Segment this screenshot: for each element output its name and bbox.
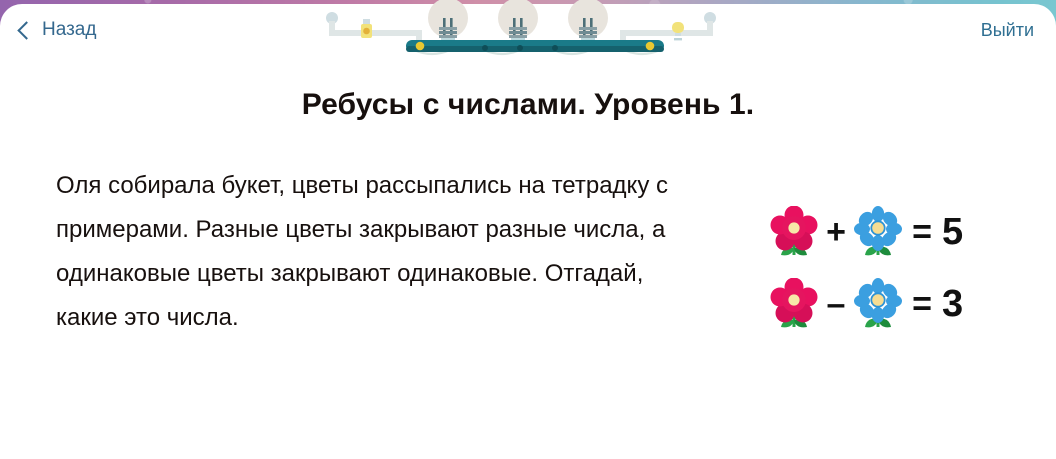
equals-sign: = [907,215,937,249]
right-wire-icon [620,12,716,44]
bulb-icon-1 [428,0,468,44]
equation-row: + [770,196,1000,268]
task-description: Оля собирала букет, цветы рассыпались на… [56,164,696,340]
lamp-bar [406,40,664,52]
hanging-lamps-illustration [306,0,736,56]
bulb-icon-3 [568,0,608,44]
page-title: Ребусы с числами. Уровень 1. [0,88,1056,122]
pink-flower-icon [770,278,818,330]
top-navigation-bar: Назад Выйти [0,4,1056,62]
content-card: Назад Выйти [0,4,1056,459]
flower-center [872,294,884,306]
blue-flower-icon [854,206,902,258]
equation-result: 5 [942,213,963,251]
flower-center [788,294,799,305]
equation-result: 3 [942,285,963,323]
equals-sign: = [907,287,937,321]
operator-minus: – [823,287,849,321]
flower-center [872,222,884,234]
bulb-icon-2 [498,0,538,44]
operator-plus: + [823,215,849,249]
flower-center [788,222,799,233]
pink-flower-icon [770,206,818,258]
exit-button[interactable]: Выйти [981,21,1034,39]
back-button-label: Назад [42,20,96,39]
back-button[interactable]: Назад [20,20,96,39]
chevron-left-icon [17,21,35,39]
equations-panel: + [770,196,1000,340]
left-wire-icon [326,12,422,44]
equation-row: – [770,268,1000,340]
blue-flower-icon [854,278,902,330]
